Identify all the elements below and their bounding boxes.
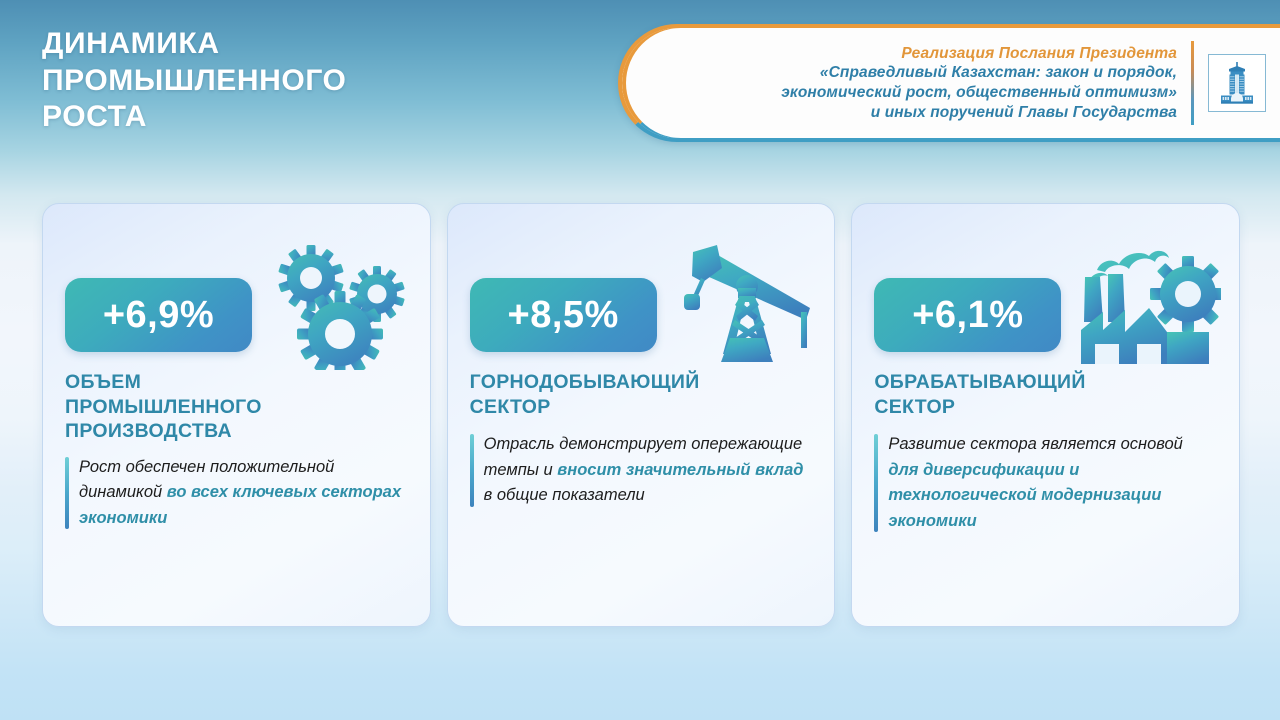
note-highlight-3: для диверсификации и технологической мод…: [888, 461, 1161, 530]
banner-line-3: экономический рост, общественный оптимиз…: [781, 83, 1177, 103]
banner-line-4: и иных поручений Главы Государства: [781, 103, 1177, 123]
banner-text-block: Реализация Послания Президента «Справедл…: [781, 44, 1191, 122]
card-top-row: +8,5%: [470, 228, 813, 348]
note-plain-3a: Развитие сектора является основой: [888, 435, 1183, 453]
metric-badge-2: +8,5%: [470, 278, 657, 352]
factory-icon: [1075, 242, 1221, 370]
banner-line-1: Реализация Послания Президента: [781, 44, 1177, 64]
card-heading-3: ОБРАБАТЫВАЮЩИЙ СЕКТОР: [874, 370, 1217, 419]
metric-card-manufacturing-sector[interactable]: +6,1%: [851, 203, 1240, 627]
oil-pumpjack-icon: [670, 242, 816, 370]
card-heading-1: ОБЪЕМ ПРОМЫШЛЕННОГО ПРОИЗВОДСТВА: [65, 370, 408, 444]
presidential-address-banner: Реализация Послания Президента «Справедл…: [618, 24, 1280, 142]
gears-icon: [266, 242, 412, 370]
metric-cards-row: +6,9%: [42, 203, 1240, 627]
card-note-1: Рост обеспечен положительной динамикой в…: [65, 455, 408, 532]
note-highlight-2: вносит значительный вклад: [557, 461, 803, 479]
card-top-row: +6,9%: [65, 228, 408, 348]
metric-card-industrial-production[interactable]: +6,9%: [42, 203, 431, 627]
card-top-row: +6,1%: [874, 228, 1217, 348]
note-plain-2b: в общие показатели: [484, 486, 645, 504]
metric-badge-3: +6,1%: [874, 278, 1061, 352]
metric-card-mining-sector[interactable]: +8,5%: [447, 203, 836, 627]
card-note-3: Развитие сектора является основой для ди…: [874, 432, 1217, 534]
card-heading-2: ГОРНОДОБЫВАЮЩИЙ СЕКТОР: [470, 370, 813, 419]
government-building-emblem: [1208, 54, 1266, 112]
page-title: ДИНАМИКА ПРОМЫШЛЕННОГО РОСТА: [42, 26, 347, 136]
metric-badge-1: +6,9%: [65, 278, 252, 352]
banner-line-2: «Справедливый Казахстан: закон и порядок…: [781, 63, 1177, 83]
card-note-2: Отрасль демонстрирует опережающие темпы …: [470, 432, 813, 509]
banner-divider: [1191, 41, 1194, 125]
